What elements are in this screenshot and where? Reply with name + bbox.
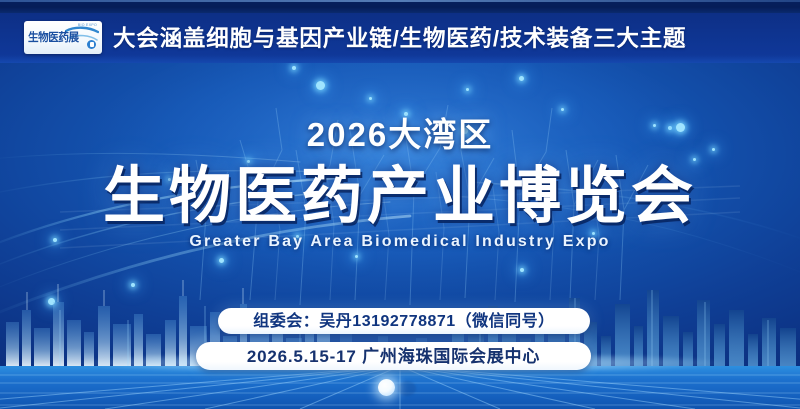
glow-particle	[219, 258, 224, 263]
date-venue-pill: 2026.5.15-17 广州海珠国际会展中心	[196, 342, 591, 370]
expo-banner: 2026大湾区 生物医药产业博览会 Greater Bay Area Biome…	[0, 0, 800, 409]
top-strip	[0, 0, 800, 13]
organizer-contact-pill: 组委会：吴丹13192778871（微信同号）	[218, 308, 590, 334]
glow-particle	[369, 97, 372, 100]
glow-particle	[519, 76, 524, 81]
glow-particle	[292, 66, 296, 70]
logo-badge-icon	[87, 40, 96, 49]
hero-year-title: 2026大湾区	[0, 108, 800, 156]
header-bar: BIO EXPO 生物医药展 大会涵盖细胞与基因产业链/生物医药/技术装备三大主…	[0, 13, 800, 63]
glow-particle	[693, 158, 696, 161]
header-tagline: 大会涵盖细胞与基因产业链/生物医药/技术装备三大主题	[113, 13, 686, 63]
glowing-sphere	[378, 379, 395, 396]
expo-logo[interactable]: BIO EXPO 生物医药展	[24, 21, 102, 54]
logo-text: 生物医药展	[28, 32, 79, 44]
glow-particle	[316, 81, 325, 90]
glow-particle	[466, 88, 469, 91]
glow-particle	[355, 255, 358, 258]
logo-tiny-text: BIO EXPO	[78, 23, 97, 27]
hero-main-title: 生物医药产业博览会	[0, 163, 800, 231]
hero-english-title: Greater Bay Area Biomedical Industry Exp…	[0, 233, 800, 251]
sphere-shadow	[398, 381, 416, 396]
glow-particle	[520, 268, 524, 272]
